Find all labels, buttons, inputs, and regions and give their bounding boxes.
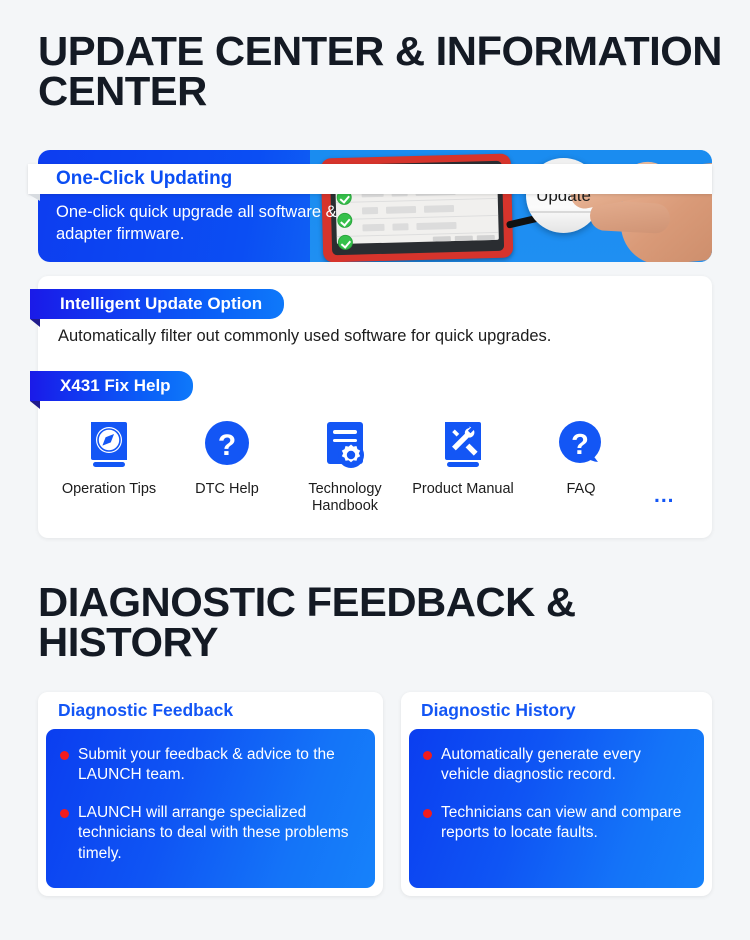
book-tools-icon xyxy=(436,418,490,472)
bullet-dot-icon xyxy=(60,809,69,818)
list-item: LAUNCH will arrange specialized technici… xyxy=(60,803,361,863)
fix-help-item-dtc-help[interactable]: ? DTC Help xyxy=(168,418,286,498)
list-item-text: Submit your feedback & advice to the LAU… xyxy=(78,745,361,785)
book-compass-icon xyxy=(82,418,136,472)
one-click-updating-label: One-Click Updating xyxy=(56,168,232,190)
tab-x431-fix-help[interactable]: X431 Fix Help xyxy=(30,371,193,401)
fix-help-item-product-manual[interactable]: Product Manual xyxy=(404,418,522,498)
bullet-dot-icon xyxy=(60,751,69,760)
fix-help-item-technology-handbook[interactable]: Technology Handbook xyxy=(286,418,404,515)
list-item-text: Technicians can view and compare reports… xyxy=(441,803,690,843)
one-click-updating-ribbon: One-Click Updating xyxy=(28,164,712,194)
bullet-dot-icon xyxy=(423,809,432,818)
question-speech-bubble-icon: ? xyxy=(554,418,608,472)
more-items-ellipsis[interactable]: ... xyxy=(654,484,675,508)
list-item: Technicians can view and compare reports… xyxy=(423,803,690,843)
list-item-text: LAUNCH will arrange specialized technici… xyxy=(78,803,361,863)
svg-text:?: ? xyxy=(571,429,589,461)
intelligent-update-description: Automatically filter out commonly used s… xyxy=(58,327,551,346)
one-click-updating-description: One-click quick upgrade all software & a… xyxy=(56,202,366,246)
fix-help-item-operation-tips[interactable]: Operation Tips xyxy=(50,418,168,498)
page-title-update-center: UPDATE CENTER & INFORMATION CENTER xyxy=(38,32,750,112)
fix-help-item-label: Operation Tips xyxy=(62,481,156,498)
list-item-text: Automatically generate every vehicle dia… xyxy=(441,745,690,785)
document-gear-icon xyxy=(318,418,372,472)
question-circle-icon: ? xyxy=(200,418,254,472)
fix-help-item-label: FAQ xyxy=(566,481,595,498)
list-item: Submit your feedback & advice to the LAU… xyxy=(60,745,361,785)
page-title-diagnostic-feedback: DIAGNOSTIC FEEDBACK & HISTORY xyxy=(38,583,750,663)
diagnostic-feedback-card: Diagnostic Feedback Submit your feedback… xyxy=(38,692,383,896)
fix-help-icon-row: Operation Tips ? DTC Help Technology Han… xyxy=(50,418,700,523)
tab-label: Intelligent Update Option xyxy=(60,294,262,314)
list-item: Automatically generate every vehicle dia… xyxy=(423,745,690,785)
diagnostic-history-body: Automatically generate every vehicle dia… xyxy=(409,729,704,888)
svg-text:?: ? xyxy=(218,429,236,462)
diagnostic-feedback-title: Diagnostic Feedback xyxy=(38,692,383,729)
diagnostic-history-card: Diagnostic History Automatically generat… xyxy=(401,692,712,896)
bullet-dot-icon xyxy=(423,751,432,760)
tab-intelligent-update-option[interactable]: Intelligent Update Option xyxy=(30,289,284,319)
fix-help-item-faq[interactable]: ? FAQ xyxy=(522,418,640,498)
fix-help-item-label: Technology Handbook xyxy=(286,481,404,515)
diagnostic-feedback-body: Submit your feedback & advice to the LAU… xyxy=(46,729,375,888)
diagnostic-history-title: Diagnostic History xyxy=(401,692,712,729)
tab-label: X431 Fix Help xyxy=(60,376,171,396)
fix-help-item-label: DTC Help xyxy=(195,481,259,498)
fix-help-item-label: Product Manual xyxy=(412,481,514,498)
